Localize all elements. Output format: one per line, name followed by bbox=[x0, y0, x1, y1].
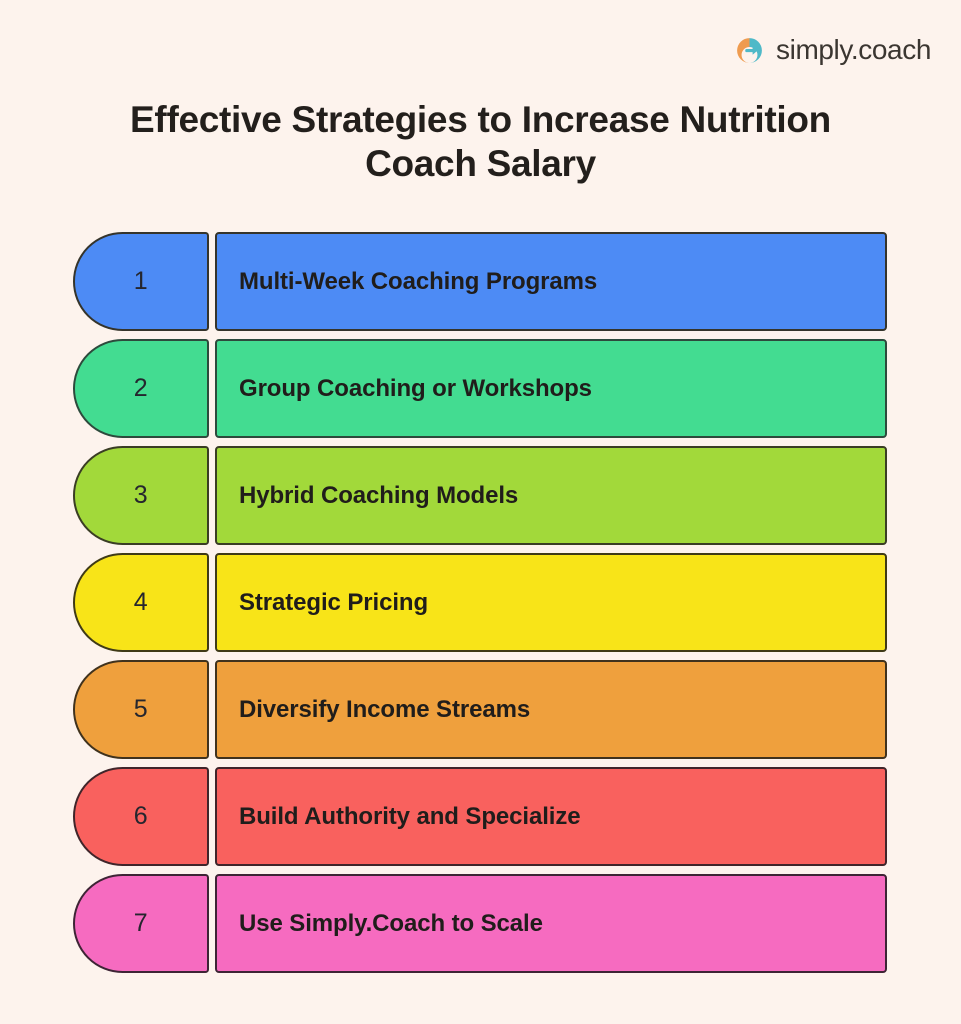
strategy-list: 1 Multi-Week Coaching Programs 2 Group C… bbox=[73, 232, 887, 973]
item-label: Use Simply.Coach to Scale bbox=[239, 910, 543, 938]
simply-coach-circle-arrow-logo bbox=[734, 35, 765, 66]
item-number-badge: 1 bbox=[73, 232, 209, 331]
list-item: 1 Multi-Week Coaching Programs bbox=[73, 232, 887, 331]
item-label: Strategic Pricing bbox=[239, 589, 428, 617]
list-item: 5 Diversify Income Streams bbox=[73, 660, 887, 759]
item-number-badge: 5 bbox=[73, 660, 209, 759]
item-number: 2 bbox=[134, 376, 148, 401]
list-item: 6 Build Authority and Specialize bbox=[73, 767, 887, 866]
list-item: 4 Strategic Pricing bbox=[73, 553, 887, 652]
item-number-badge: 7 bbox=[73, 874, 209, 973]
item-number-badge: 6 bbox=[73, 767, 209, 866]
item-label-panel: Build Authority and Specialize bbox=[215, 767, 887, 866]
list-item: 7 Use Simply.Coach to Scale bbox=[73, 874, 887, 973]
item-label-panel: Strategic Pricing bbox=[215, 553, 887, 652]
item-number-badge: 3 bbox=[73, 446, 209, 545]
item-label: Hybrid Coaching Models bbox=[239, 482, 518, 510]
item-number-badge: 4 bbox=[73, 553, 209, 652]
brand-name: simply.coach bbox=[776, 36, 931, 64]
item-label: Build Authority and Specialize bbox=[239, 803, 581, 831]
item-label: Multi-Week Coaching Programs bbox=[239, 268, 597, 296]
item-label: Diversify Income Streams bbox=[239, 696, 530, 724]
page-title: Effective Strategies to Increase Nutriti… bbox=[0, 98, 961, 187]
item-label-panel: Multi-Week Coaching Programs bbox=[215, 232, 887, 331]
brand-logo: simply.coach bbox=[734, 30, 931, 70]
item-number: 6 bbox=[134, 804, 148, 829]
item-number: 7 bbox=[134, 911, 148, 936]
list-item: 3 Hybrid Coaching Models bbox=[73, 446, 887, 545]
list-item: 2 Group Coaching or Workshops bbox=[73, 339, 887, 438]
item-number: 5 bbox=[134, 697, 148, 722]
item-label: Group Coaching or Workshops bbox=[239, 375, 592, 403]
item-label-panel: Use Simply.Coach to Scale bbox=[215, 874, 887, 973]
item-label-panel: Diversify Income Streams bbox=[215, 660, 887, 759]
item-label-panel: Hybrid Coaching Models bbox=[215, 446, 887, 545]
item-number: 1 bbox=[134, 269, 148, 294]
item-number: 4 bbox=[134, 590, 148, 615]
item-number-badge: 2 bbox=[73, 339, 209, 438]
item-number: 3 bbox=[134, 483, 148, 508]
item-label-panel: Group Coaching or Workshops bbox=[215, 339, 887, 438]
